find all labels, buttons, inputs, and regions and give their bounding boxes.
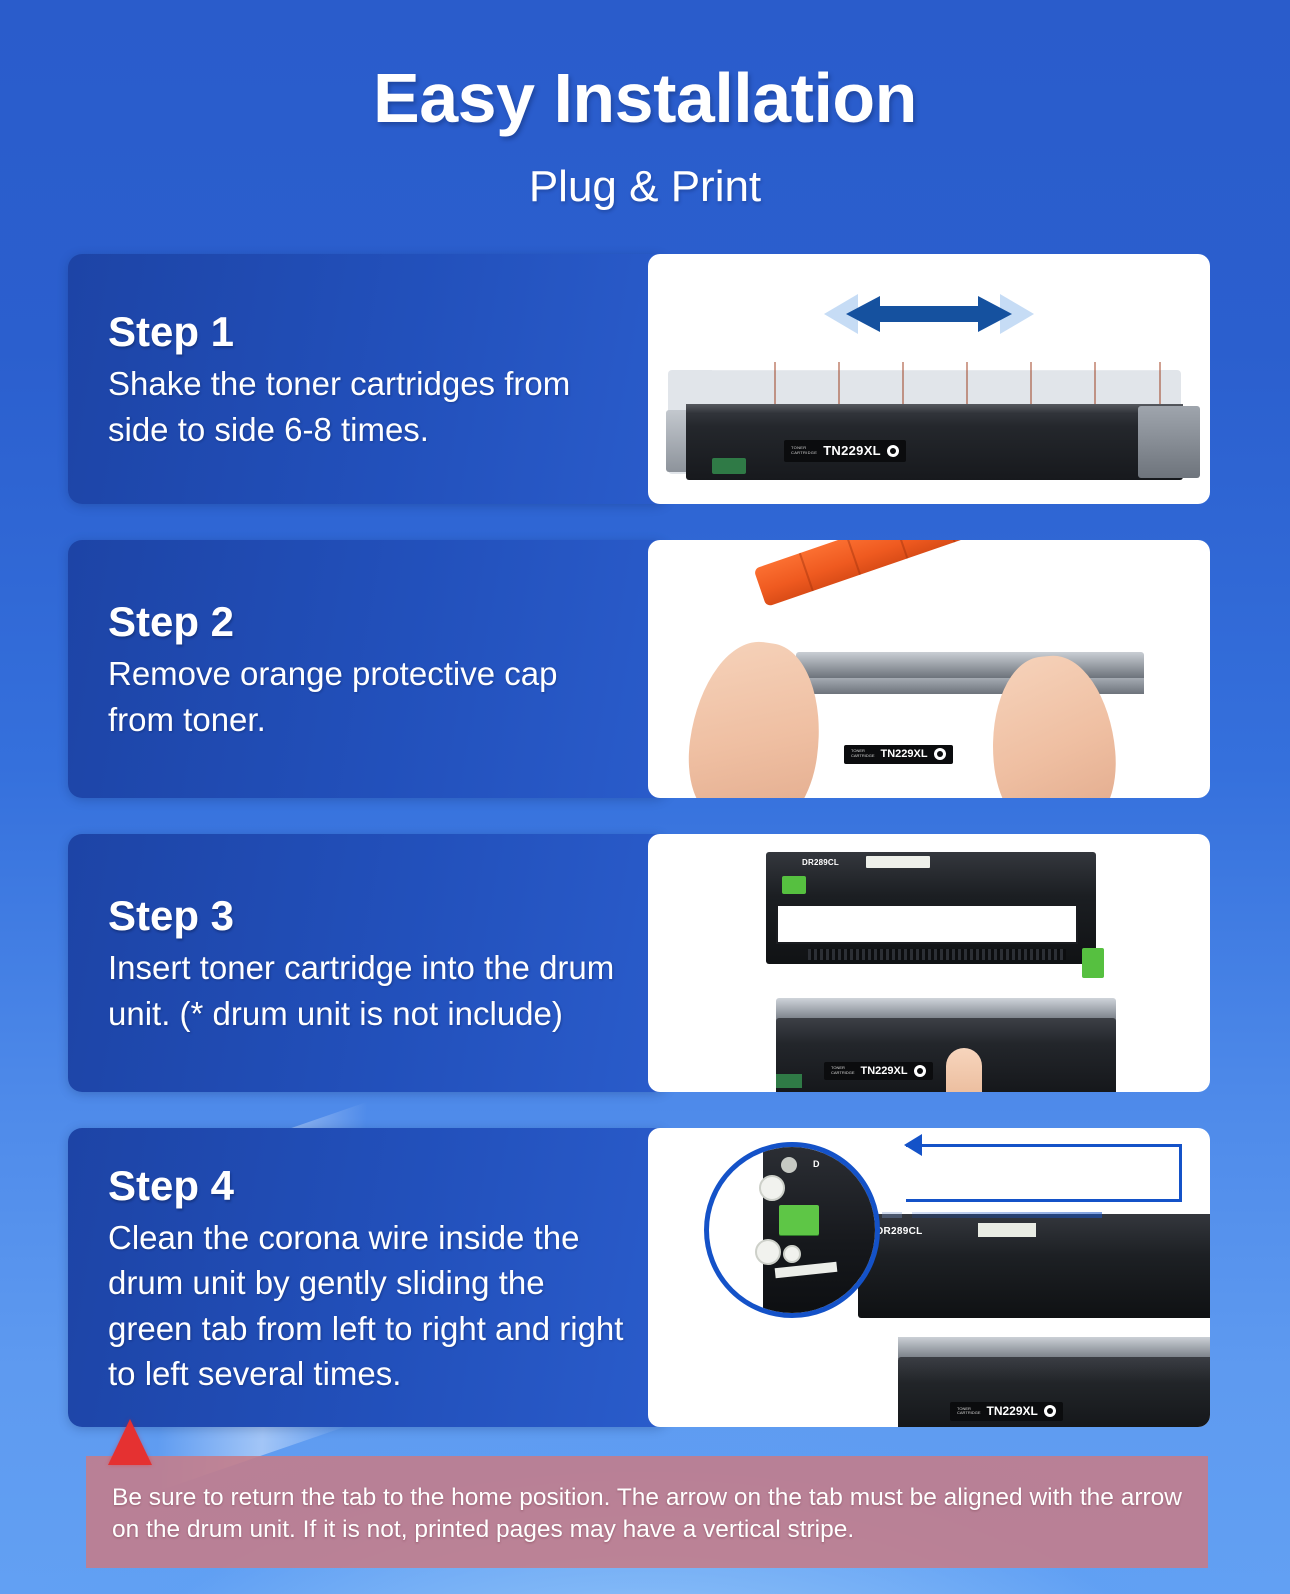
left-arrow-icon: [906, 1144, 1182, 1202]
toner-model-text: TN229XL: [986, 1404, 1037, 1418]
magnified-drum-label: D: [813, 1159, 820, 1169]
toner-model-text: TN229XL: [823, 443, 881, 458]
step-row: Step 4 Clean the corona wire inside the …: [68, 1128, 1210, 1427]
finger-icon: [946, 1048, 982, 1092]
infographic-page: Easy Installation Plug & Print Step 1 Sh…: [0, 0, 1290, 1594]
step-row: Step 1 Shake the toner cartridges from s…: [68, 254, 1210, 504]
step-4-text-card: Step 4 Clean the corona wire inside the …: [68, 1128, 668, 1427]
black-color-dot-icon: [887, 445, 899, 457]
toner-model-text: TN229XL: [880, 748, 927, 760]
step-2-figure: TONERCARTRIDGE TN229XL: [648, 540, 1210, 798]
toner-cartridge-graphic: TONERCARTRIDGE TN229XL: [666, 362, 1200, 482]
toner-model-text: TN229XL: [860, 1065, 907, 1077]
toner-label-small-text: TONERCARTRIDGE: [791, 446, 817, 455]
drum-model-label: DR289CL: [802, 858, 839, 867]
step-4-title: Step 4: [108, 1162, 628, 1209]
step-2-body: Remove orange protective cap from toner.: [108, 651, 628, 742]
drum-model-text: DR289CL: [876, 1226, 923, 1237]
drum-unit-graphic: DR289CL: [766, 852, 1096, 964]
drum-model-text: DR289CL: [802, 858, 839, 867]
step-1-text-card: Step 1 Shake the toner cartridges from s…: [68, 254, 668, 504]
drum-model-label: DR289CL: [876, 1226, 923, 1237]
black-color-dot-icon: [1044, 1405, 1056, 1417]
step-1-body: Shake the toner cartridges from side to …: [108, 361, 628, 452]
green-tab-icon: [1082, 948, 1104, 978]
header: Easy Installation Plug & Print: [0, 0, 1290, 212]
step-1-figure: TONERCARTRIDGE TN229XL: [648, 254, 1210, 504]
toner-model-label: TONERCARTRIDGE TN229XL: [844, 745, 953, 764]
orange-cap-graphic: [753, 540, 1050, 607]
step-3-text-card: Step 3 Insert toner cartridge into the d…: [68, 834, 668, 1092]
toner-label-small-text: TONERCARTRIDGE: [831, 1066, 854, 1075]
step-2-title: Step 2: [108, 598, 628, 645]
step-3-figure: DR289CL TONERCARTRIDGE TN229XL: [648, 834, 1210, 1092]
step-2-text-card: Step 2 Remove orange protective cap from…: [68, 540, 668, 798]
double-arrow-horizontal-icon: [824, 292, 1034, 336]
step-3-body: Insert toner cartridge into the drum uni…: [108, 945, 628, 1036]
step-4-body: Clean the corona wire inside the drum un…: [108, 1215, 628, 1397]
warning-banner: Be sure to return the tab to the home po…: [86, 1456, 1208, 1568]
black-color-dot-icon: [934, 748, 946, 760]
step-1-title: Step 1: [108, 308, 628, 355]
toner-model-label: TONERCARTRIDGE TN229XL: [784, 440, 906, 462]
page-title: Easy Installation: [0, 62, 1290, 136]
steps-list: Step 1 Shake the toner cartridges from s…: [0, 254, 1290, 1427]
magnifier-circle-icon: D: [704, 1142, 880, 1318]
green-tab-icon: [779, 1205, 819, 1235]
step-4-figure: DR289CL TONERCARTRIDGE TN229XL D: [648, 1128, 1210, 1427]
toner-label-small-text: TONERCARTRIDGE: [957, 1407, 980, 1416]
toner-model-label: TONERCARTRIDGE TN229XL: [950, 1402, 1063, 1421]
step-3-title: Step 3: [108, 892, 628, 939]
step-row: Step 2 Remove orange protective cap from…: [68, 540, 1210, 798]
black-color-dot-icon: [914, 1065, 926, 1077]
step-row: Step 3 Insert toner cartridge into the d…: [68, 834, 1210, 1092]
toner-model-label: TONERCARTRIDGE TN229XL: [824, 1062, 933, 1080]
toner-label-small-text: TONERCARTRIDGE: [851, 749, 874, 758]
green-tab-icon: [782, 876, 806, 894]
warning-text: Be sure to return the tab to the home po…: [112, 1482, 1182, 1547]
up-triangle-pointer-icon: [108, 1419, 152, 1465]
page-subtitle: Plug & Print: [0, 162, 1290, 212]
